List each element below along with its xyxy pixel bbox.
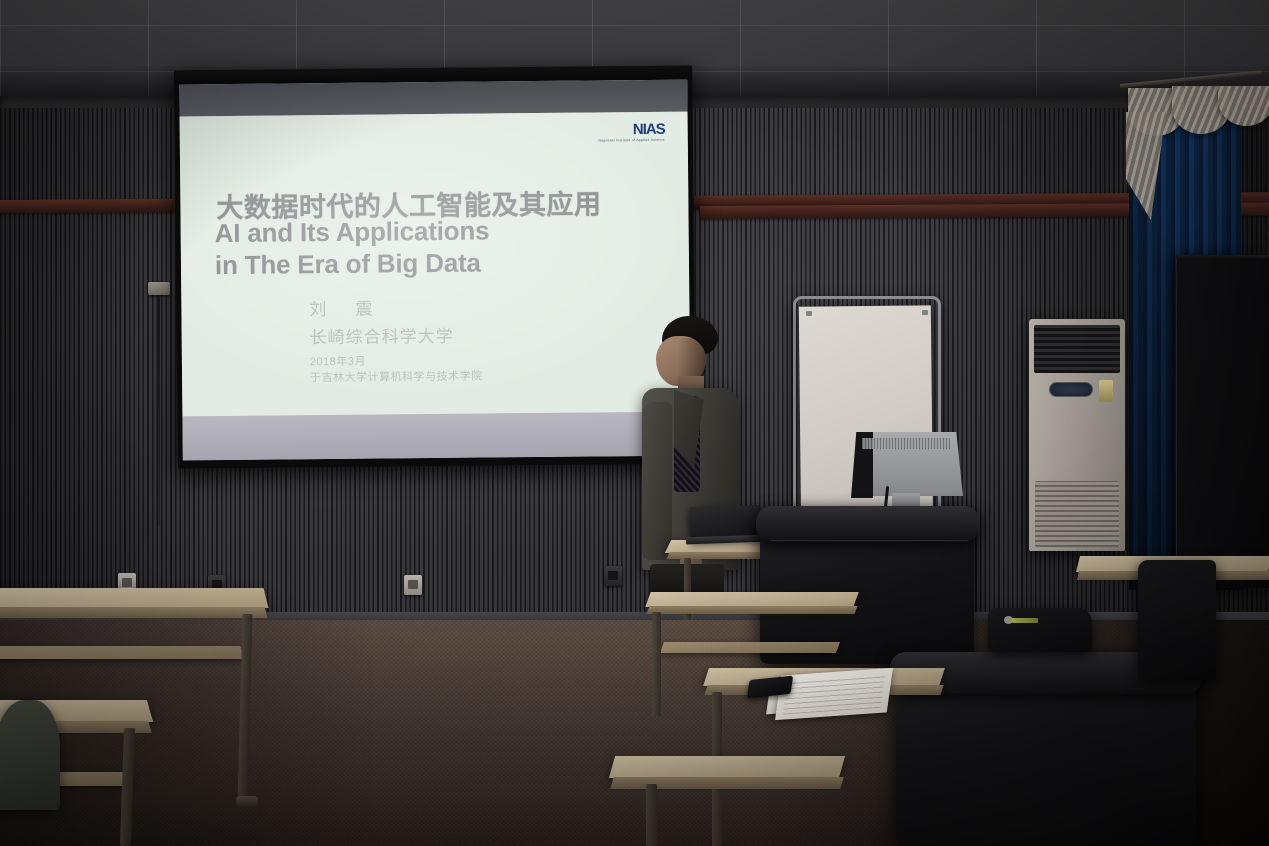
slide-title-english-line1: AI and Its Applications <box>215 215 490 249</box>
desk-shelf-left <box>0 646 244 659</box>
desk-shelf-midright <box>660 642 840 653</box>
slide-title-english-line2: in The Era of Big Data <box>215 248 481 282</box>
screen-surface: NIAS Nagasaki Institute of Applied Scien… <box>179 80 691 461</box>
desk-leg-bottomcenter <box>646 784 657 846</box>
presenter-arm <box>642 402 672 560</box>
desk-top-midright <box>645 592 858 607</box>
sofa-backrest-top <box>756 506 980 542</box>
slide-venue: 于吉林大学计算机科学与技术学院 <box>310 368 483 386</box>
power-outlet-right[interactable] <box>604 566 622 586</box>
air-conditioner-display-panel[interactable] <box>1049 382 1093 397</box>
backpack-logo-text <box>1012 618 1038 623</box>
projection-screen: NIAS Nagasaki Institute of Applied Scien… <box>174 66 696 469</box>
monitor-vent <box>862 438 950 449</box>
dark-cabinet <box>1176 258 1269 588</box>
screen-bottom-band <box>182 412 690 461</box>
seated-attendee <box>0 700 60 810</box>
air-conditioner-top-grille <box>1034 325 1120 373</box>
air-conditioner-energy-label <box>1099 380 1113 402</box>
desk-top-left <box>0 588 268 608</box>
lecture-hall-scene: NIAS Nagasaki Institute of Applied Scien… <box>0 0 1269 846</box>
desk-top-bottomcenter <box>609 756 845 778</box>
handwriting-lines <box>783 673 886 714</box>
black-backpack[interactable] <box>988 608 1092 652</box>
wall-bracket <box>148 282 170 295</box>
desk-leg-midright <box>652 612 661 716</box>
handwritten-papers[interactable] <box>775 668 893 720</box>
black-bag-right[interactable] <box>1138 560 1216 680</box>
flipchart-clip-right <box>922 310 928 315</box>
nias-logo-subtitle: Nagasaki Institute of Applied Science <box>598 139 664 143</box>
desk-edge-left <box>0 607 267 618</box>
nias-logo: NIAS Nagasaki Institute of Applied Scien… <box>600 122 665 143</box>
slide-author-name: 刘 震 <box>309 295 378 321</box>
slide-affiliation: 长崎综合科学大学 <box>310 322 454 348</box>
screen-top-band <box>179 80 687 117</box>
slide-date: 2018年3月 <box>310 353 366 370</box>
desk-edge-midright <box>647 606 858 614</box>
wall-cable <box>158 295 160 525</box>
desk-leg-foot-left <box>236 796 258 807</box>
air-conditioner-bottom-grille <box>1035 481 1119 547</box>
power-outlet-mid[interactable] <box>404 575 422 595</box>
nias-logo-mark: NIAS <box>600 122 665 138</box>
sofa-seam <box>770 540 968 541</box>
projected-slide: NIAS Nagasaki Institute of Applied Scien… <box>180 112 691 417</box>
flipchart-clip-left <box>806 311 812 316</box>
